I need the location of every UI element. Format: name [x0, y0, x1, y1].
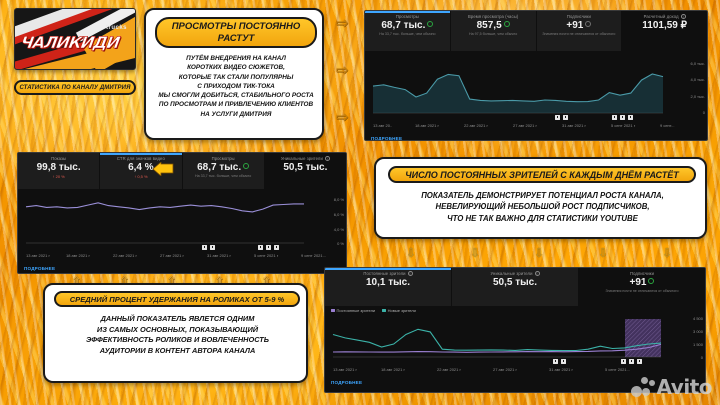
metric-label: Время просмотра (часы) — [453, 14, 534, 19]
metric-number: +91 — [630, 277, 647, 288]
metric-note: ↑ 20 % — [20, 174, 97, 179]
metric-label: Постоянные зрителиi — [327, 271, 449, 276]
viewers-line-chart[interactable]: 4 500 3 000 1 500 0 — [325, 313, 705, 367]
y-tick-label: 2,0 тыс. — [691, 94, 706, 99]
arrow-right-icon: ⇨ — [336, 110, 349, 125]
metric-label: CTR для значков видео — [102, 156, 179, 161]
header-body-line: КОТОРЫЕ ТАК СТАЛИ ПОПУЛЯРНЫ — [151, 73, 321, 82]
event-flag-icon[interactable] — [620, 115, 625, 120]
channel-logo: trucks ЧАЛИКИДИ — [14, 8, 136, 70]
ctr-line-chart[interactable]: 8,0 % 6,0 % 4,0 % 0 % — [18, 189, 346, 253]
chart-event-flags[interactable] — [612, 115, 633, 120]
left-body-line: ДАННЫЙ ПОКАЗАТЕЛЬ ЯВЛЕТСЯ ОДНИМ — [49, 314, 306, 325]
left-body-line: АУДИТОРИИ В КОНТЕНТ АВТОРА КАНАЛА — [49, 346, 306, 357]
event-flag-icon[interactable] — [274, 245, 279, 250]
metric-card-views[interactable]: Просмотры 68,7 тыс. На 33,7 тыс. больше,… — [365, 11, 451, 51]
ctr-chart-x-axis: 13 авг 2021 г 18 авг 2021 г 22 авг 2021 … — [18, 253, 346, 264]
y-tick-label: 4 500 — [693, 316, 703, 321]
x-tick-label: 9 сент 2021... — [301, 253, 326, 258]
event-flag-icon[interactable] — [555, 115, 560, 120]
metric-number: 50,5 тыс. — [267, 162, 344, 173]
right-body-line: НЕВЕЛИРУЮЩИЙ НЕБОЛЬШОЙ РОСТ ПОДПИСЧИКОВ, — [381, 201, 704, 212]
metric-card-subscribers[interactable]: Подписчики +91 Значения почти не отличаю… — [537, 11, 623, 51]
arrow-down-icon: ⇩ — [662, 247, 672, 259]
metric-number: 857,5 — [477, 20, 502, 31]
logo-subtitle: trucks — [106, 25, 127, 31]
chart-event-flags[interactable] — [202, 245, 215, 250]
y-tick-label: 0 % — [337, 241, 344, 246]
analytics-panel-ctr[interactable]: Показы 99,8 тыс. ↑ 20 % CTR для значков … — [17, 152, 347, 274]
metric-number: 10,1 тыс. — [327, 277, 449, 288]
event-flag-icon[interactable] — [612, 115, 617, 120]
event-flag-icon[interactable] — [561, 359, 566, 364]
left-body-line: ИЗ САМЫХ ОСНОВНЫХ, ПОКАЗЫВАЮЩИЙ — [49, 325, 306, 336]
metric-card-impressions[interactable]: Показы 99,8 тыс. ↑ 20 % — [18, 153, 100, 189]
metric-note: На 33,7 тыс. больше, чем обычно — [185, 174, 262, 178]
right-callout-title: ЧИСЛО ПОСТОЯННЫХ ЗРИТЕЛЕЙ С КАЖДЫМ ДНЁМ … — [388, 166, 696, 183]
status-dot-icon — [427, 21, 433, 27]
arrow-down-icon: ⇩ — [534, 247, 544, 259]
left-callout-card: СРЕДНИЙ ПРОЦЕНТ УДЕРЖАНИЯ НА РОЛИКАХ ОТ … — [43, 283, 308, 383]
x-tick-label: 5 сент 2021 г — [254, 253, 278, 258]
chart-event-flags[interactable] — [555, 115, 568, 120]
metric-value: +91 — [539, 20, 620, 31]
right-callout-body: ПОКАЗАТЕЛЬ ДЕМОНСТРИРУЕТ ПОТЕНЦИАЛ РОСТА… — [381, 190, 704, 224]
right-body-line: ПОКАЗАТЕЛЬ ДЕМОНСТРИРУЕТ ПОТЕНЦИАЛ РОСТА… — [381, 190, 704, 201]
metric-value: 68,7 тыс. — [185, 162, 262, 173]
header-title-line1: ПРОСМОТРЫ ПОСТОЯННО — [172, 21, 301, 33]
metric-number: 99,8 тыс. — [20, 162, 97, 173]
x-tick-label: 22 авг 2021 г — [464, 123, 488, 128]
see-more-link[interactable]: ПОДРОБНЕЕ — [365, 134, 707, 141]
header-body-line: МЫ СМОГЛИ ДОБИТЬСЯ, СТАБИЛЬНОГО РОСТА — [151, 91, 321, 100]
x-tick-label: 13 авг 2021 г — [333, 367, 357, 372]
status-dot-icon — [585, 21, 591, 27]
y-tick-label: 4,0 тыс. — [691, 77, 706, 82]
avito-watermark: Avito — [631, 375, 712, 399]
viewers-chart-legend: Постоянные зрители Новые зрители — [325, 306, 705, 313]
metric-label: Просмотры — [367, 14, 448, 19]
chart-event-flags[interactable] — [553, 359, 566, 364]
metric-number: 68,7 тыс. — [381, 20, 425, 31]
event-flag-icon[interactable] — [202, 245, 207, 250]
metric-card-estimated-revenue[interactable]: Расчетный доходi 1101,59 ₽ — [622, 11, 707, 51]
status-dot-icon — [648, 278, 654, 284]
metric-label: Просмотры — [185, 156, 262, 161]
info-icon[interactable]: i — [681, 14, 686, 19]
y-tick-label: 0 — [703, 110, 705, 115]
header-callout-title: ПРОСМОТРЫ ПОСТОЯННО РАСТУТ — [155, 17, 317, 48]
views-line-chart[interactable]: 6,0 тыс. 4,0 тыс. 2,0 тыс. 0 — [365, 51, 707, 123]
metric-card-unique-viewers[interactable]: Уникальные зрителиi 50,5 тыс. — [452, 268, 579, 306]
avito-logo-icon — [631, 377, 655, 397]
metric-card-returning-viewers[interactable]: Постоянные зрителиi 10,1 тыс. — [325, 268, 452, 306]
right-callout-card: ЧИСЛО ПОСТОЯННЫХ ЗРИТЕЛЕЙ С КАЖДЫМ ДНЁМ … — [374, 157, 707, 239]
header-body-line: С ПРИХОДОМ ТИК-ТОКА — [151, 82, 321, 91]
arrow-right-icon: ⇨ — [336, 63, 349, 78]
x-tick-label: 27 авг 2021 г — [493, 367, 517, 372]
arrow-down-icon: ⇩ — [598, 247, 608, 259]
logo-wordmark: ЧАЛИКИДИ — [19, 33, 120, 52]
analytics-panel-views[interactable]: Просмотры 68,7 тыс. На 33,7 тыс. больше,… — [364, 10, 708, 141]
chart-event-flags[interactable] — [621, 359, 642, 364]
event-flag-icon[interactable] — [628, 115, 633, 120]
info-icon[interactable]: i — [535, 271, 540, 276]
metric-value: 857,5 — [453, 20, 534, 31]
metric-number: +91 — [566, 20, 583, 31]
legend-swatch-icon — [382, 309, 386, 313]
y-tick-label: 0 — [701, 355, 703, 360]
x-tick-label: 22 авг 2021 г — [113, 253, 137, 258]
x-tick-label: 13 авг 2021 г — [26, 253, 50, 258]
info-icon[interactable]: i — [408, 271, 413, 276]
metric-label: Подписчики — [581, 271, 703, 276]
metric-card-row: Постоянные зрителиi 10,1 тыс. Уникальные… — [325, 268, 705, 306]
pointer-arrow-icon — [152, 162, 174, 176]
x-tick-label: 18 авг 2021 г — [415, 123, 439, 128]
arrow-down-icon: ⇩ — [470, 247, 480, 259]
y-tick-label: 6,0 тыс. — [691, 61, 706, 66]
see-more-link[interactable]: ПОДРОБНЕЕ — [18, 264, 346, 271]
y-tick-label: 8,0 % — [334, 197, 344, 202]
metric-number: 1101,59 ₽ — [624, 20, 705, 31]
header-body-line: ПО ПРОСМОТРАМ И ПРИВЛЕЧЕНИЮ КЛИЕНТОВ — [151, 100, 321, 109]
avito-wordmark: Avito — [657, 375, 712, 399]
views-chart-svg — [365, 51, 708, 123]
right-body-line: ЧТО НЕ ТАК ВАЖНО ДЛЯ СТАТИСТИКИ YOUTUBE — [381, 213, 704, 224]
event-flag-icon[interactable] — [637, 359, 642, 364]
y-tick-label: 3 000 — [693, 329, 703, 334]
metric-card-unique-viewers[interactable]: Уникальные зрителиi 50,5 тыс. — [265, 153, 346, 189]
metric-card-watch-time[interactable]: Время просмотра (часы) 857,5 На 97,5 бол… — [451, 11, 537, 51]
x-tick-label: 18 авг 2021 г — [381, 367, 405, 372]
metric-label: Подписчики — [539, 14, 620, 19]
x-tick-label: 5 сент 2021... — [605, 367, 630, 372]
x-tick-label: 31 авг 2021 г — [562, 123, 586, 128]
x-tick-label: 27 авг 2021 г — [513, 123, 537, 128]
metric-note: На 33,7 тыс. больше, чем обычно — [367, 32, 448, 36]
chart-event-flags[interactable] — [258, 245, 279, 250]
metric-card-subscribers[interactable]: Подписчики +91 Значения почти не отличаю… — [579, 268, 705, 306]
x-tick-label: 31 авг 2021 г — [207, 253, 231, 258]
viewers-chart-svg — [325, 313, 706, 367]
event-flag-icon[interactable] — [210, 245, 215, 250]
metric-value: +91 — [581, 277, 703, 288]
metric-card-ctr[interactable]: CTR для значков видео 6,4 % ↑ 0,5 % — [100, 153, 182, 189]
status-dot-icon — [504, 21, 510, 27]
metric-note: Значения почти не отличаются от обычного — [539, 32, 620, 36]
views-chart-x-axis: 13 авг 20.. 18 авг 2021 г 22 авг 2021 г … — [365, 123, 707, 134]
left-callout-title: СРЕДНИЙ ПРОЦЕНТ УДЕРЖАНИЯ НА РОЛИКАХ ОТ … — [54, 291, 300, 307]
ctr-chart-svg — [18, 189, 347, 253]
y-tick-label: 1 500 — [693, 342, 703, 347]
event-flag-icon[interactable] — [563, 115, 568, 120]
event-flag-icon[interactable] — [629, 359, 634, 364]
arrow-right-icon: ⇨ — [336, 16, 349, 31]
left-callout-body: ДАННЫЙ ПОКАЗАТЕЛЬ ЯВЛЕТСЯ ОДНИМ ИЗ САМЫХ… — [49, 314, 306, 357]
arrow-down-icon: ⇩ — [406, 247, 416, 259]
info-icon[interactable]: i — [325, 156, 330, 161]
metric-note: На 97,5 больше, чем обычно — [453, 32, 534, 36]
event-flag-icon[interactable] — [266, 245, 271, 250]
y-tick-label: 6,0 % — [334, 212, 344, 217]
left-body-line: ЭФФЕКТИВНОСТЬ РОЛИКОВ И ВОВЛЕЧЕННОСТЬ — [49, 335, 306, 346]
status-dot-icon — [243, 163, 249, 169]
header-body-line: НА УСЛУГИ ДМИТРИЯ — [151, 110, 321, 119]
metric-label: Показы — [20, 156, 97, 161]
header-title-line2: РАСТУТ — [218, 33, 255, 45]
x-tick-label: 5 сент 2021 г — [611, 123, 635, 128]
event-flag-icon[interactable] — [621, 359, 626, 364]
channel-stats-badge: СТАТИСТИКА ПО КАНАЛУ ДМИТРИЯ — [14, 80, 136, 95]
header-callout-body: ПУТЁМ ВНЕДРЕНИЯ НА КАНАЛ КОРОТКИХ ВИДЕО … — [151, 54, 321, 119]
legend-swatch-icon — [331, 309, 335, 313]
metric-number: 68,7 тыс. — [197, 162, 241, 173]
header-body-line: ПУТЁМ ВНЕДРЕНИЯ НА КАНАЛ — [151, 54, 321, 63]
header-body-line: КОРОТКИХ ВИДЕО СЮЖЕТОВ, — [151, 63, 321, 72]
y-tick-label: 4,0 % — [334, 227, 344, 232]
metric-card-views[interactable]: Просмотры 68,7 тыс. На 33,7 тыс. больше,… — [183, 153, 265, 189]
x-tick-label: 31 авг 2021 г — [549, 367, 573, 372]
metric-number: 50,5 тыс. — [454, 277, 576, 288]
metric-label: Уникальные зрителиi — [267, 156, 344, 161]
metric-value: 68,7 тыс. — [367, 20, 448, 31]
event-flag-icon[interactable] — [553, 359, 558, 364]
x-tick-label: 13 авг 20.. — [373, 123, 392, 128]
metric-note: Значения почти не отличаются от обычного — [581, 289, 703, 293]
event-flag-icon[interactable] — [258, 245, 263, 250]
metric-card-row: Показы 99,8 тыс. ↑ 20 % CTR для значков … — [18, 153, 346, 189]
metric-card-row: Просмотры 68,7 тыс. На 33,7 тыс. больше,… — [365, 11, 707, 51]
metric-label: Расчетный доходi — [624, 14, 705, 19]
x-tick-label: 18 авг 2021 г — [66, 253, 90, 258]
metric-label: Уникальные зрителиi — [454, 271, 576, 276]
x-tick-label: 27 авг 2021 г — [160, 253, 184, 258]
header-callout-card: ПРОСМОТРЫ ПОСТОЯННО РАСТУТ ПУТЁМ ВНЕДРЕН… — [144, 8, 324, 140]
x-tick-label: 9 сент... — [660, 123, 675, 128]
x-tick-label: 22 авг 2021 г — [437, 367, 461, 372]
